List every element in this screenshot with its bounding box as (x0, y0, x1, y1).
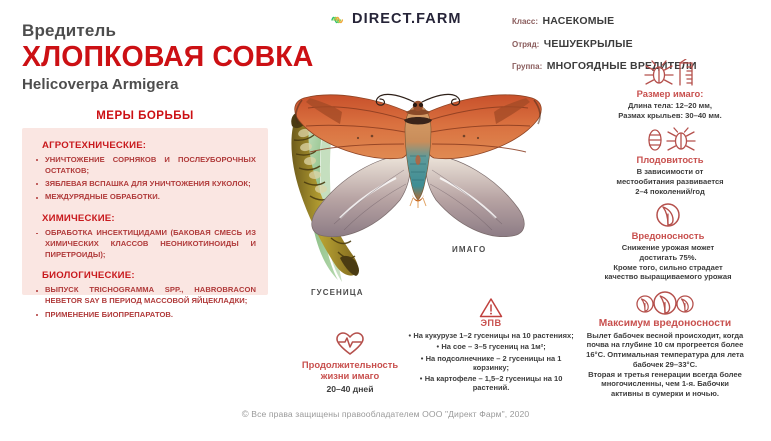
copyright-text: Все права защищены правообладателем ООО … (251, 409, 529, 419)
fact-line: Длина тела: 12–20 мм, (572, 101, 768, 111)
warning-triangle-icon (398, 297, 584, 318)
fact-block-max-harmfulness: Максимум вредоносности Вылет бабочек вес… (560, 286, 770, 399)
list-item: МЕЖДУРЯДНЫЕ ОБРАБОТКИ. (36, 192, 256, 203)
list-item: • На кукурузе 1–2 гусеницы на 10 растени… (398, 331, 584, 340)
measures-list-bio: ВЫПУСК TRICHOGRAMMA SPP., HABROBRACON HE… (36, 285, 256, 320)
epv-item-text: На кукурузе 1–2 гусеницы на 10 растениях… (413, 331, 573, 340)
fact-line: Вторая и третья генерации всегда более (560, 370, 770, 380)
fact-line: бабочек 29–33°С. (560, 360, 770, 370)
list-item: УНИЧТОЖЕНИЕ СОРНЯКОВ И ПОСЛЕУБОРОЧНЫХ ОС… (36, 155, 256, 177)
beetle-ruler-icon (572, 57, 768, 87)
fact-line: многочисленны, чем 1-я. Бабочки (560, 379, 770, 389)
taxonomy-value: НАСЕКОМЫЕ (542, 15, 614, 27)
list-item: • На картофеле – 1,5–2 гусеницы на 10 ра… (398, 374, 584, 393)
epv-title: ЭПВ (398, 318, 584, 328)
epv-item-text: На подсолнечнике – 2 гусеницы на 1 корзи… (426, 354, 562, 372)
fact-line: активны в сумерки и ночью. (560, 389, 770, 399)
fact-title: Максимум вредоносности (560, 318, 770, 330)
infographic-page: Вредитель ХЛОПКОВАЯ СОВКА Helicoverpa Ar… (0, 0, 771, 441)
wave-logo-icon (330, 12, 345, 27)
fact-line: 16°С. Оптимальная температура для лета (560, 350, 770, 360)
moth-and-caterpillar-illustration (268, 34, 568, 294)
measures-panel: АГРОТЕХНИЧЕСКИЕ: УНИЧТОЖЕНИЕ СОРНЯКОВ И … (22, 128, 268, 295)
moth-shape (295, 94, 542, 236)
epv-list: • На кукурузе 1–2 гусеницы на 10 растени… (398, 331, 584, 393)
fact-title: Плодовитость (572, 155, 768, 166)
pest-illustration (268, 34, 568, 294)
measures-group-head-chem: ХИМИЧЕСКИЕ: (42, 213, 256, 224)
fact-line: Снижение урожая может (566, 243, 770, 253)
copyright-icon: © (242, 408, 249, 419)
epv-block: ЭПВ • На кукурузе 1–2 гусеницы на 10 рас… (398, 297, 584, 395)
footer-copyright: © Все права защищены правообладателем ОО… (0, 408, 771, 419)
fact-block-harmfulness: Вредоносность Снижение урожая может дост… (566, 199, 770, 282)
fact-line: Кроме того, сильно страдает (566, 263, 770, 273)
fact-line: В зависимости от (572, 167, 768, 177)
taxonomy-row-class: Класс: НАСЕКОМЫЕ (512, 9, 697, 32)
list-item: • На сое – 3–5 гусениц на 1м²; (398, 342, 584, 351)
larva-beetle-icon (572, 123, 768, 153)
list-item: ОБРАБОТКА ИНСЕКТИЦИДАМИ (БАКОВАЯ СМЕСЬ И… (36, 228, 256, 260)
fact-block-fertility: Плодовитость В зависимости от местообита… (572, 123, 768, 196)
fact-block-size: Размер имаго: Длина тела: 12–20 мм, Разм… (572, 57, 768, 121)
triple-leaf-circle-icon (560, 286, 770, 316)
fact-line: достигать 75%. (566, 253, 770, 263)
list-item: • На подсолнечнике – 2 гусеницы на 1 кор… (398, 354, 584, 373)
measures-list-agro: УНИЧТОЖЕНИЕ СОРНЯКОВ И ПОСЛЕУБОРОЧНЫХ ОС… (36, 155, 256, 203)
brand-logo[interactable]: DIRECT.FARM (330, 11, 462, 27)
imago-caption: ИМАГО (452, 245, 486, 254)
epv-item-text: На сое – 3–5 гусениц на 1м²; (441, 342, 545, 351)
epv-item-text: На картофеле – 1,5–2 гусеницы на 10 раст… (425, 374, 563, 392)
fact-line: почва на глубине 10 см прогреется более (560, 340, 770, 350)
logo-text: DIRECT.FARM (352, 11, 462, 27)
fact-line: 2–4 поколений/год (572, 187, 768, 197)
measures-group-head-agro: АГРОТЕХНИЧЕСКИЕ: (42, 140, 256, 151)
measures-title: МЕРЫ БОРЬБЫ (22, 110, 268, 122)
list-item: ПРИМЕНЕНИЕ БИОПРЕПАРАТОВ. (36, 310, 256, 321)
taxonomy-key: Класс: (512, 17, 538, 26)
fact-title: Размер имаго: (572, 89, 768, 100)
fact-line: местообитания развивается (572, 177, 768, 187)
fact-line: Размах крыльев: 30–40 мм. (572, 111, 768, 121)
list-item: ЗЯБЛЕВАЯ ВСПАШКА ДЛЯ УНИЧТОЖЕНИЯ КУКОЛОК… (36, 179, 256, 190)
measures-group-head-bio: БИОЛОГИЧЕСКИЕ: (42, 270, 256, 281)
fact-line: качество выращиваемого урожая (566, 272, 770, 282)
measures-list-chem: ОБРАБОТКА ИНСЕКТИЦИДАМИ (БАКОВАЯ СМЕСЬ И… (36, 228, 256, 260)
leaf-circle-icon (566, 199, 770, 229)
list-item: ВЫПУСК TRICHOGRAMMA SPP., HABROBRACON HE… (36, 285, 256, 307)
caterpillar-caption: ГУСЕНИЦА (311, 288, 364, 297)
fact-title: Вредоносность (566, 231, 770, 242)
fact-line: Вылет бабочек весной происходит, когда (560, 331, 770, 341)
